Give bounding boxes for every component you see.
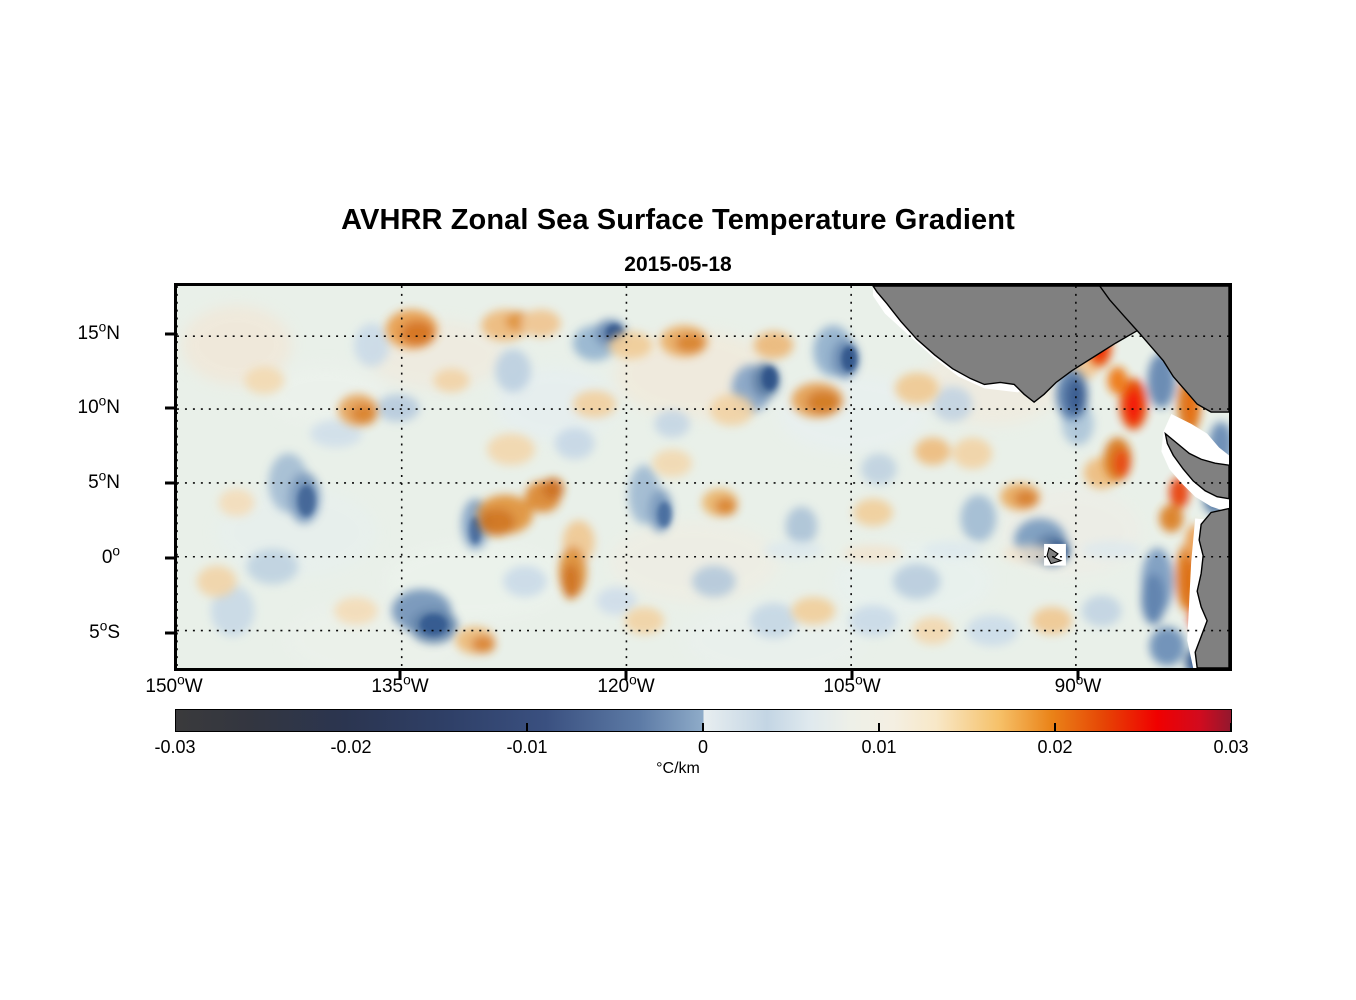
colorbar-tick-0 [878,723,880,732]
ytick-label-0: 0o [0,547,120,569]
xtick-label-150w: 150oW [94,676,254,698]
colorbar-label--0.03: -0.03 [95,737,255,758]
landmass-south-america [1195,509,1229,668]
ytick-label-5s: 5oS [0,622,120,644]
colorbar-label-0.01: 0.01 [799,737,959,758]
ytick-mark-10n [165,407,174,410]
galapagos-islands [1044,544,1066,566]
colorbar-tick--0.01 [702,723,704,732]
map-plot-area[interactable] [174,283,1232,671]
colorbar-tick-0.01 [1054,723,1056,732]
colorbar-label-0: 0 [623,737,783,758]
colorbar-unit-label: °C/km [0,760,1356,778]
ytick-mark-5n [165,482,174,485]
ytick-mark-5s [165,632,174,635]
figure-container: AVHRR Zonal Sea Surface Temperature Grad… [0,0,1356,1000]
xtick-mark-135w [399,671,402,680]
sst-gradient-heatmap [177,286,1229,668]
figure-date-subtitle: 2015-05-18 [0,253,1356,277]
colorbar-gradient [175,709,1232,732]
colorbar[interactable] [175,709,1232,732]
colorbar-tick--0.02 [526,723,528,732]
ytick-label-15n: 15oN [0,323,120,345]
colorbar-tick-0.02 [1230,723,1232,732]
colorbar-label-0.03: 0.03 [1151,737,1311,758]
xtick-mark-120w [625,671,628,680]
colorbar-label--0.02: -0.02 [271,737,431,758]
page-title: AVHRR Zonal Sea Surface Temperature Grad… [0,204,1356,237]
colorbar-label--0.01: -0.01 [447,737,607,758]
xtick-mark-105w [851,671,854,680]
ytick-label-10n: 10oN [0,397,120,419]
xtick-mark-90w [1077,671,1080,680]
ytick-mark-0 [165,557,174,560]
ytick-label-5n: 5oN [0,472,120,494]
colorbar-label-0.02: 0.02 [975,737,1135,758]
ytick-mark-15n [165,333,174,336]
